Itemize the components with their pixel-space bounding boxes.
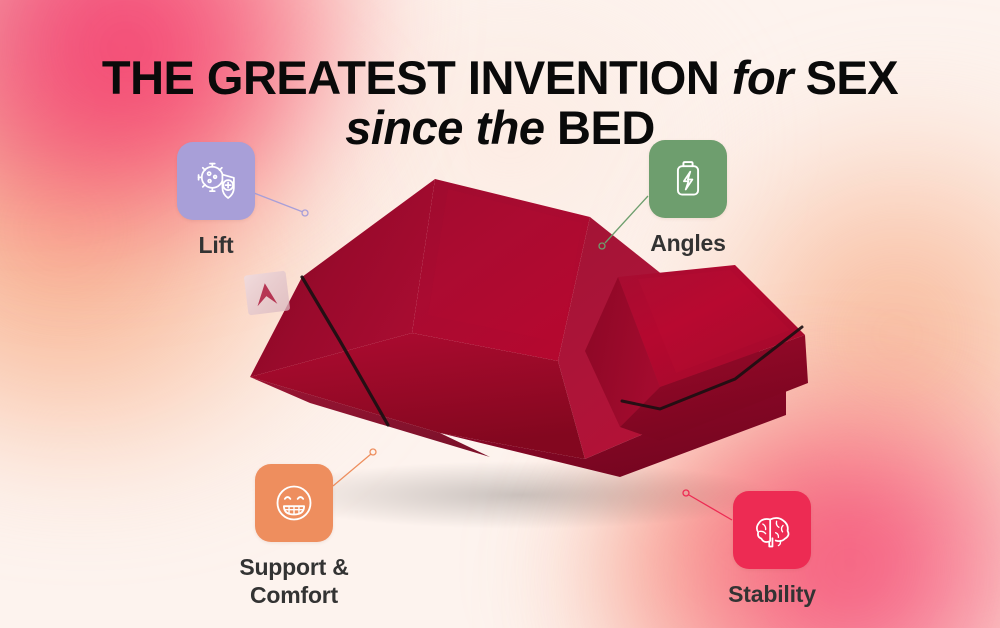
- grinning-face-icon: [272, 481, 316, 525]
- feature-stability[interactable]: Stability: [733, 491, 811, 608]
- infographic-canvas: THE GREATEST INVENTION for SEX since the…: [0, 0, 1000, 628]
- virus-shield-icon: [194, 159, 238, 203]
- headline-line-1: THE GREATEST INVENTION for SEX: [0, 53, 1000, 103]
- feature-angles[interactable]: Angles: [649, 140, 727, 257]
- battery-bolt-icon: [666, 157, 710, 201]
- feature-badge-stability[interactable]: [733, 491, 811, 569]
- product-shadow: [265, 461, 775, 529]
- headline-text-1b: SEX: [793, 51, 898, 104]
- feature-support-comfort[interactable]: Support & Comfort: [255, 464, 333, 609]
- product-logo-tag: [244, 271, 291, 316]
- page-title: THE GREATEST INVENTION for SEX since the…: [0, 53, 1000, 153]
- feature-label-lift: Lift: [96, 231, 336, 259]
- headline-text-1a: THE GREATEST INVENTION: [102, 51, 732, 104]
- feature-label-support-comfort: Support & Comfort: [174, 553, 414, 609]
- feature-lift[interactable]: Lift: [177, 142, 255, 259]
- headline-line-2: since the BED: [0, 103, 1000, 153]
- feature-label-angles: Angles: [568, 229, 808, 257]
- brain-icon: [750, 508, 794, 552]
- feature-badge-lift[interactable]: [177, 142, 255, 220]
- headline-text-2b: BED: [544, 101, 654, 154]
- feature-label-stability: Stability: [652, 580, 892, 608]
- feature-badge-support-comfort[interactable]: [255, 464, 333, 542]
- headline-emphasis-for: for: [732, 51, 793, 104]
- headline-emphasis-since-the: since the: [345, 101, 544, 154]
